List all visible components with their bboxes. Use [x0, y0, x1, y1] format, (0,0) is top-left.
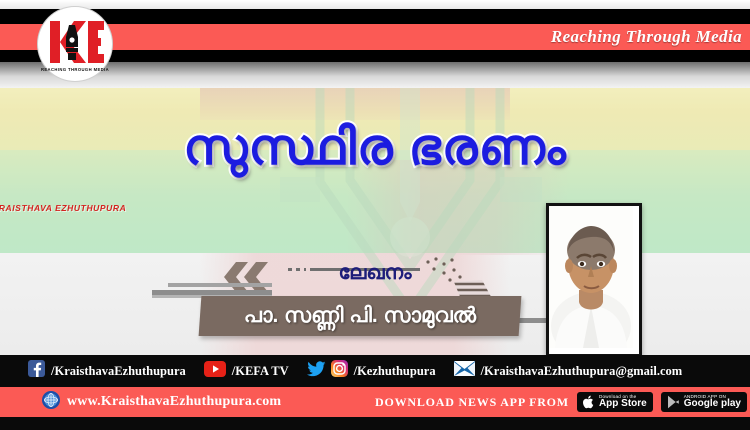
site-logo[interactable]: REACHING THROUGH MEDIA [38, 7, 112, 81]
footer-website[interactable]: www.KraisthavaEzhuthupura.com [42, 387, 281, 417]
facebook-handle[interactable]: /KraisthavaEzhuthupura [51, 364, 186, 379]
footer-social-list: /KraisthavaEzhuthupura /KEFA TV [28, 355, 682, 387]
globe-icon[interactable] [42, 391, 60, 414]
logo-subtext: REACHING THROUGH MEDIA [41, 67, 109, 72]
email-icon[interactable] [454, 361, 475, 381]
headline-title: സുസ്ഥിര ഭരണം [0, 118, 750, 176]
author-banner: പാ. സണ്ണി പി. സാമുവൽ [200, 296, 520, 336]
app-download-label: DOWNLOAD NEWS APP FROM [375, 395, 569, 410]
google-play-icon [667, 395, 680, 409]
header-bar: Reaching Through Media [0, 0, 750, 62]
facebook-icon[interactable] [28, 360, 45, 382]
instagram-icon[interactable] [331, 360, 348, 382]
footer-bottom-strip [0, 417, 750, 430]
article-kicker: ലേഖനം [250, 262, 500, 285]
author-name: പാ. സണ്ണി പി. സാമുവൽ [200, 296, 520, 336]
header-gradient-strip [0, 62, 750, 88]
app-store-badge[interactable]: Download on the App Store [577, 392, 653, 412]
apple-icon [583, 395, 595, 409]
youtube-handle[interactable]: /KEFA TV [232, 364, 289, 379]
brand-side-label: KRAISTHAVA EZHUTHUPURA [0, 203, 126, 213]
author-portrait [546, 203, 642, 357]
instagram-handle[interactable]: /Kezhuthupura [354, 364, 436, 379]
app-store-big: App Store [599, 399, 647, 409]
decor-bar-long [152, 290, 272, 295]
website-url[interactable]: www.KraisthavaEzhuthupura.com [67, 394, 281, 410]
twitter-icon[interactable] [307, 361, 326, 382]
header-top-highlight [0, 0, 750, 9]
google-play-badge[interactable]: ANDROID APP ON Google play [661, 392, 747, 412]
news-card: Reaching Through Media REACHING THROUGH … [0, 0, 750, 430]
email-handle[interactable]: /KraisthavaEzhuthupura@gmail.com [481, 364, 683, 379]
footer-app-download: DOWNLOAD NEWS APP FROM Download on the A… [375, 387, 747, 417]
youtube-icon[interactable] [204, 361, 226, 382]
google-play-big: Google play [684, 399, 741, 409]
